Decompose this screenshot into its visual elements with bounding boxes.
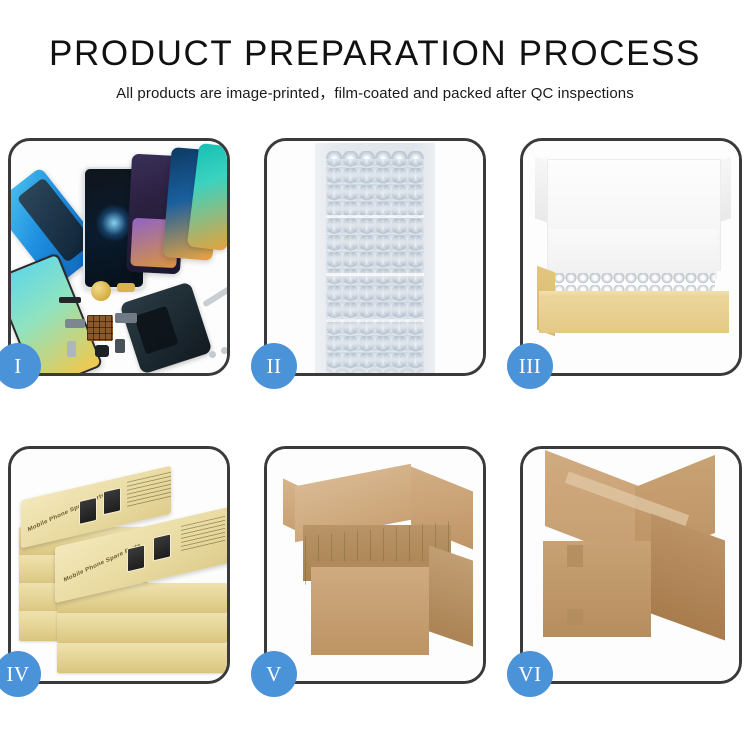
- part-flex-cable-b: [115, 313, 137, 323]
- process-step-4: Mobile Phone Spare Parts Mobile Phone Sp…: [8, 446, 230, 684]
- part-speaker: [59, 297, 81, 303]
- part-sim-tray: [67, 341, 76, 357]
- box-screen-b: [103, 487, 121, 515]
- box-screen-d: [153, 533, 171, 561]
- box-spec-lines: [127, 472, 171, 508]
- bubble-wrap-image: [267, 141, 483, 373]
- step-badge-1: I: [0, 343, 41, 389]
- bubble-grid-overlay: [326, 159, 424, 373]
- step-badge-2: II: [251, 343, 297, 389]
- page-subtitle: All products are image-printed，film-coat…: [0, 74, 750, 103]
- sealed-carton-image: [523, 449, 739, 681]
- part-camera: [95, 345, 109, 357]
- step-badge-5: V: [251, 651, 297, 697]
- step-badge-6: VI: [507, 651, 553, 697]
- sealed-carton-front: [543, 541, 651, 637]
- process-step-3: III: [520, 138, 742, 376]
- step-badge-4: IV: [0, 651, 41, 697]
- phone-back-housing: [119, 281, 212, 373]
- carton-tape-tab-top: [567, 545, 583, 567]
- page-header: PRODUCT PREPARATION PROCESS All products…: [0, 0, 750, 103]
- carton-tape-tab-bottom: [567, 609, 583, 625]
- process-step-6: VI: [520, 446, 742, 684]
- stack-box-6: [57, 613, 227, 643]
- page-title: PRODUCT PREPARATION PROCESS: [0, 0, 750, 74]
- phone-parts-image: [11, 141, 227, 373]
- wrap-fold-2: [326, 273, 424, 276]
- wrap-fold-3: [326, 319, 424, 322]
- box-screen-a: [79, 497, 97, 525]
- part-tweezers: [202, 284, 227, 307]
- step-badge-3: III: [507, 343, 553, 389]
- process-step-5: V: [264, 446, 486, 684]
- process-step-2: II: [264, 138, 486, 376]
- box-foam-sheet: [549, 229, 717, 279]
- carton-side-panel: [429, 545, 473, 646]
- carton-front-panel: [311, 567, 429, 655]
- box-screen-c: [127, 544, 145, 572]
- preparation-process-page: PRODUCT PREPARATION PROCESS All products…: [0, 0, 750, 750]
- process-step-grid: I II: [8, 138, 742, 684]
- stacked-boxes-image: Mobile Phone Spare Parts Mobile Phone Sp…: [11, 449, 227, 681]
- open-carton-image: [267, 449, 483, 681]
- part-screws: [209, 347, 227, 361]
- box-stack: Mobile Phone Spare Parts Mobile Phone Sp…: [15, 465, 227, 671]
- box-front-panel: [539, 297, 729, 333]
- part-coil: [91, 281, 111, 301]
- part-screw-grid: [87, 315, 113, 341]
- box-spec-lines-2: [181, 516, 225, 552]
- part-flex-cable-a: [117, 283, 135, 292]
- process-step-1: I: [8, 138, 230, 376]
- part-battery-connector: [115, 339, 125, 353]
- open-kraft-box-image: [523, 141, 739, 373]
- stack-box-7: [57, 643, 227, 673]
- part-flex-cable-c: [65, 319, 85, 328]
- wrap-fold-1: [326, 215, 424, 218]
